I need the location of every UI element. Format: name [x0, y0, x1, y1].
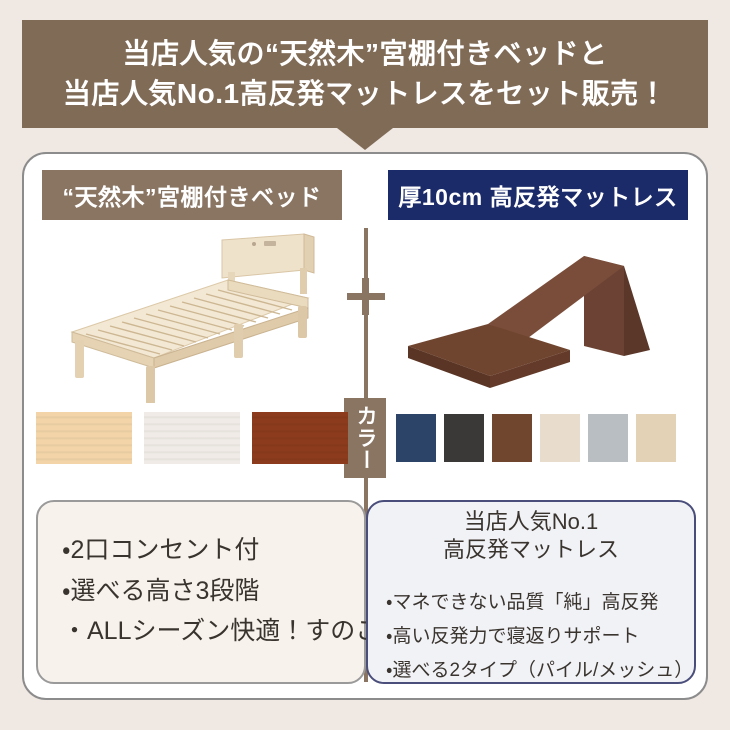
mattress-color-swatches — [396, 414, 676, 462]
feature-item-mattress-3: ・選べる2タイプ（パイル/メッシュ） — [386, 654, 693, 688]
mattress-swatch-beige[interactable] — [636, 414, 676, 462]
brown-trifold-mattress-illustration — [388, 228, 688, 403]
mattress-swatch-navy[interactable] — [396, 414, 436, 462]
feature-panel-mattress-title-line-2: 高反発マットレス — [366, 536, 696, 564]
bed-color-swatches — [36, 412, 348, 464]
feature-item-bed-2: ・選べる高さ3段階 — [62, 571, 380, 612]
mattress-swatch-ivory[interactable] — [540, 414, 580, 462]
product-label-mattress: 厚10cm 高反発マットレス — [388, 170, 688, 220]
feature-item-mattress-1: ・マネできない品質「純」高反発 — [386, 586, 693, 620]
product-label-bed-text: “天然木”宮棚付きベッド — [63, 178, 322, 212]
feature-list-bed: ・2口コンセント付 ・選べる高さ3段階 ・ALLシーズン快適！すのこ — [62, 530, 380, 652]
bed-swatch-whitewash[interactable] — [144, 412, 240, 464]
mattress-swatch-gray[interactable] — [588, 414, 628, 462]
feature-item-bed-1: ・2口コンセント付 — [62, 530, 380, 571]
promo-banner-line-1: 当店人気の“天然木”宮棚付きベッドと — [122, 34, 607, 74]
bed-swatch-walnut[interactable] — [252, 412, 348, 464]
product-image-bed — [42, 228, 342, 403]
wooden-slat-bed-frame-illustration — [42, 228, 342, 403]
feature-panel-mattress-title-line-1: 当店人気No.1 — [366, 508, 696, 536]
feature-item-mattress-2: ・高い反発力で寝返りサポート — [386, 620, 693, 654]
feature-item-bed-3: ・ALLシーズン快適！すのこ — [62, 611, 380, 652]
connector-line-mid — [364, 310, 368, 400]
product-label-mattress-text: 厚10cm 高反発マットレス — [398, 178, 677, 212]
bed-swatch-natural[interactable] — [36, 412, 132, 464]
product-image-mattress — [388, 228, 688, 403]
mattress-swatch-charcoal[interactable] — [444, 414, 484, 462]
promo-banner-line-2: 当店人気No.1高反発マットレスをセット販売！ — [63, 74, 667, 114]
mattress-swatch-brown[interactable] — [492, 414, 532, 462]
connector-line-top — [364, 228, 368, 284]
promo-banner: 当店人気の“天然木”宮棚付きベッドと 当店人気No.1高反発マットレスをセット販… — [22, 20, 708, 128]
feature-panel-mattress-title: 当店人気No.1 高反発マットレス — [366, 508, 696, 563]
promo-banner-arrow-tail — [337, 128, 393, 150]
connector-badge-color: カラー — [344, 398, 386, 478]
feature-list-mattress: ・マネできない品質「純」高反発 ・高い反発力で寝返りサポート ・選べる2タイプ（… — [386, 586, 693, 687]
product-label-bed: “天然木”宮棚付きベッド — [42, 170, 342, 220]
connector-badge-color-text: カラー — [353, 405, 377, 471]
